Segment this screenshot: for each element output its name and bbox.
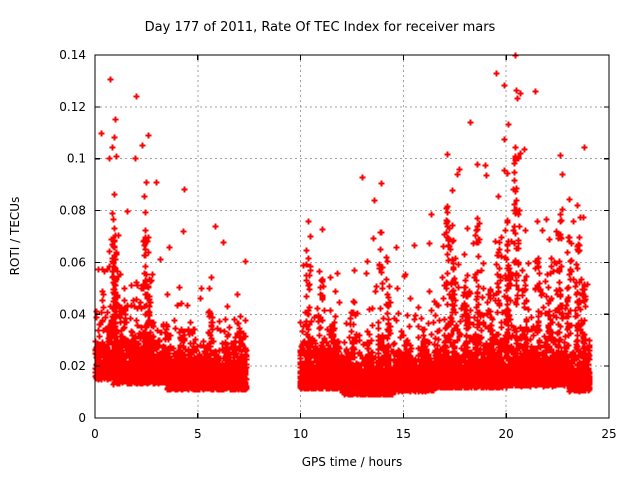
x-tick-label: 20	[499, 427, 514, 441]
x-tick-label: 0	[91, 427, 99, 441]
chart-title: Day 177 of 2011, Rate Of TEC Index for r…	[145, 20, 496, 35]
x-tick-label: 15	[396, 427, 411, 441]
y-tick-label: 0.02	[59, 359, 86, 373]
roti-scatter-chart: Day 177 of 2011, Rate Of TEC Index for r…	[0, 0, 640, 480]
y-tick-label: 0.1	[67, 152, 86, 166]
x-tick-label: 25	[601, 427, 616, 441]
x-tick-label: 10	[293, 427, 308, 441]
x-axis-label: GPS time / hours	[302, 455, 403, 469]
y-tick-label: 0.06	[59, 255, 86, 269]
chart-background	[0, 0, 640, 480]
x-tick-label: 5	[194, 427, 202, 441]
chart-container: Day 177 of 2011, Rate Of TEC Index for r…	[0, 0, 640, 480]
y-tick-label: 0.14	[59, 48, 86, 62]
y-tick-label: 0.08	[59, 204, 86, 218]
y-tick-label: 0	[78, 411, 86, 425]
y-axis-label: ROTI / TECUs	[8, 197, 22, 276]
y-tick-label: 0.04	[59, 307, 86, 321]
y-tick-label: 0.12	[59, 100, 86, 114]
